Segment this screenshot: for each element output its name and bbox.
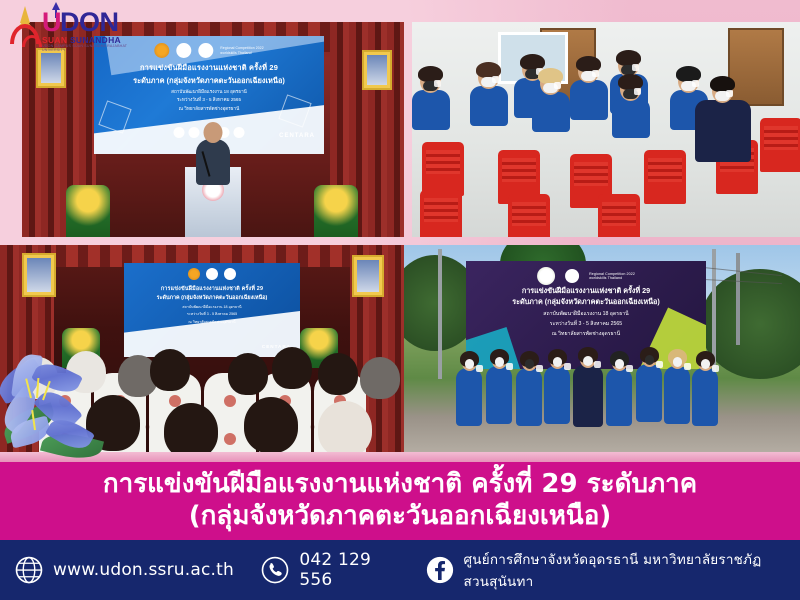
person-body (532, 92, 570, 132)
phone-icon (260, 555, 290, 585)
screen-dates: ระหว่างวันที่ 3 - 5 สิงหาคม 2565 (94, 97, 324, 104)
audience-head (272, 347, 312, 389)
footer-phone-text: 042 129 556 (299, 550, 398, 590)
student-person (540, 72, 570, 132)
screen-logo-row: Regional Competition 2022 worldskills Th… (154, 43, 263, 58)
audience-head (318, 353, 358, 395)
caption-line2: (กลุ่มจังหวัดภาคตะวันออกเฉียงเหนือ) (189, 501, 611, 533)
screen-dates: ระหว่างวันที่ 3 - 5 สิงหาคม 2565 (124, 311, 300, 317)
globe-icon (14, 555, 44, 585)
person-body (516, 368, 542, 426)
red-chair (420, 190, 462, 237)
person-body (570, 80, 608, 120)
footer-facebook-text: ศูนย์การศึกษาจังหวัดอุดรธานี มหาวิทยาลัย… (464, 548, 800, 592)
person-head (670, 353, 685, 369)
footer-phone-item[interactable]: 042 129 556 (260, 550, 398, 590)
caption-band: การแข่งขันฝีมือแรงงานแห่งชาติ ครั้งที่ 2… (0, 462, 800, 540)
audience-head (228, 353, 268, 395)
group-person (698, 355, 718, 426)
emblem-icon (188, 268, 200, 280)
group-person (670, 353, 690, 424)
official-person (712, 80, 751, 162)
speaker-person (196, 139, 230, 185)
banner-venue: สถาบันพัฒนาฝีมือแรงงาน 18 อุดรธานี (466, 310, 706, 318)
screen-title-line2: ระดับภาค (กลุ่มจังหวัดภาคตะวันออกเฉียงเห… (124, 294, 300, 302)
screen-title-line1: การแข่งขันฝีมือแรงงานแห่งชาติ ครั้งที่ 2… (124, 285, 300, 293)
red-chair (760, 118, 800, 172)
sponsor-icon-5 (234, 127, 245, 138)
screen-title-line1: การแข่งขันฝีมือแรงงานแห่งชาติ ครั้งที่ 2… (94, 62, 324, 74)
red-chair (598, 194, 640, 237)
photo-collage: Regional Competition 2022 worldskills Th… (0, 22, 800, 460)
worldskills-label: Regional Competition 2022 worldskills Th… (220, 46, 263, 55)
person-body (606, 368, 632, 426)
caption-line1: การแข่งขันฝีมือแรงงานแห่งชาติ ครั้งที่ 2… (103, 469, 697, 501)
student-person (620, 78, 650, 138)
screen-venue: สถาบันพัฒนาฝีมือแรงงาน 18 อุดรธานี (124, 304, 300, 310)
banner-title-line1: การแข่งขันฝีมือแรงงานแห่งชาติ ครั้งที่ 2… (466, 286, 706, 297)
udon-ssru-logo: U DON SUAN SUNANDHA UDON CAMPUS SUAN SUN… (8, 4, 128, 48)
screen-venue: สถาบันพัฒนาฝีมือแรงงาน 18 อุดรธานี (94, 89, 324, 96)
student-person (420, 70, 450, 130)
flower-stamen (36, 378, 39, 398)
group-person (612, 355, 632, 426)
poster-root: Regional Competition 2022 worldskills Th… (0, 0, 800, 600)
red-chair (508, 194, 550, 237)
banner-title-block: การแข่งขันฝีมือแรงงานแห่งชาติ ครั้งที่ 2… (466, 286, 706, 338)
banner-title-line2: ระดับภาค (กลุ่มจังหวัดภาคตะวันออกเฉียงเห… (466, 297, 706, 308)
screen-title-block: การแข่งขันฝีมือแรงงานแห่งชาติ ครั้งที่ 2… (94, 62, 324, 113)
sponsor-icon-2 (189, 127, 200, 138)
royal-portrait-left (36, 48, 66, 88)
official-person (580, 351, 603, 427)
speaker-head (204, 122, 223, 143)
student-person (578, 60, 608, 120)
audience-head (360, 357, 400, 399)
screen-logo-row (188, 268, 236, 280)
stage-flowers-right (314, 185, 358, 237)
royal-portrait-right (362, 50, 392, 90)
screen-title-block: การแข่งขันฝีมือแรงงานแห่งชาติ ครั้งที่ 2… (124, 285, 300, 325)
footer-website-text: www.udon.ssru.ac.th (53, 560, 234, 580)
person-body (664, 366, 690, 424)
logo-subtitle-small: UDON CAMPUS SUAN SUNANDHA RAJABHAT UNIVE… (42, 44, 128, 52)
group-person (522, 355, 542, 426)
group-person (492, 353, 512, 424)
person-head (642, 351, 657, 367)
centara-sponsor-label: CENTARA (279, 133, 315, 139)
facebook-icon (425, 555, 455, 585)
person-head (550, 353, 565, 369)
person-body (636, 364, 662, 422)
logo-emblem-icon (8, 6, 42, 44)
seal-icon-2 (198, 43, 213, 58)
province-seal-icon (537, 267, 555, 285)
group-person (462, 355, 482, 426)
photo-stage-podium: Regional Competition 2022 worldskills Th… (22, 22, 404, 237)
person-head (492, 353, 507, 369)
person-body (544, 366, 570, 424)
sponsor-icon-1 (174, 127, 185, 138)
student-person (478, 66, 508, 126)
seal-icon-2 (224, 268, 236, 280)
red-chair (422, 142, 464, 196)
royal-portrait-left (22, 253, 56, 297)
screen-location: ณ วิทยาลัยสารพัดช่างอุดรธานี (124, 319, 300, 325)
person-body-blazer (695, 100, 751, 162)
audience-head (244, 397, 298, 453)
person-head (462, 355, 477, 371)
person-body-blazer (573, 365, 603, 427)
group-person (642, 351, 662, 422)
photo-group-under-banner: Regional Competition 2022 worldskills Th… (404, 245, 800, 460)
seal-icon-2 (565, 269, 579, 283)
banner-location: ณ วิทยาลัยสารพัดช่างอุดรธานี (466, 330, 706, 338)
stage-screen: การแข่งขันฝีมือแรงงานแห่งชาติ ครั้งที่ 2… (124, 263, 300, 357)
worldskills-label: Regional Competition 2022 worldskills Th… (589, 272, 635, 281)
red-swirl-icon (10, 24, 40, 44)
banner-logo-row: Regional Competition 2022 worldskills Th… (537, 267, 635, 285)
person-body (692, 368, 718, 426)
stage-flowers-left (66, 185, 110, 237)
audience-head (318, 401, 372, 457)
audience-head (164, 403, 218, 459)
logo-letters-don: DON (60, 9, 119, 36)
banner-dates: ระหว่างวันที่ 3 - 5 สิงหาคม 2565 (466, 320, 706, 328)
screen-location: ณ วิทยาลัยสารพัดช่างอุดรธานี (94, 106, 324, 113)
photo-seated-students (412, 22, 800, 237)
emblem-icon (154, 43, 169, 58)
footer-facebook-item[interactable]: ศูนย์การศึกษาจังหวัดอุดรธานี มหาวิทยาลัย… (425, 548, 800, 592)
flower-decoration-bottom-left (0, 352, 118, 470)
seal-icon-1 (206, 268, 218, 280)
seal-icon-1 (176, 43, 191, 58)
screen-title-line2: ระดับภาค (กลุ่มจังหวัดภาคตะวันออกเฉียงเห… (94, 75, 324, 87)
person-head (522, 355, 537, 371)
person-body (612, 98, 650, 138)
group-person (550, 353, 570, 424)
person-head (612, 355, 627, 371)
footer-bar: www.udon.ssru.ac.th 042 129 556 ศูนย์การ… (0, 540, 800, 600)
royal-portrait-right (352, 255, 384, 297)
person-body (412, 90, 450, 130)
logo-letter-u: U (42, 9, 62, 36)
utility-pole (736, 253, 740, 345)
banner-pole-left (438, 249, 442, 379)
person-body (470, 86, 508, 126)
audience-head (150, 349, 190, 391)
footer-website-item[interactable]: www.udon.ssru.ac.th (14, 555, 234, 585)
red-chair (644, 150, 686, 204)
person-head (698, 355, 713, 371)
person-body (456, 368, 482, 426)
person-body (486, 366, 512, 424)
